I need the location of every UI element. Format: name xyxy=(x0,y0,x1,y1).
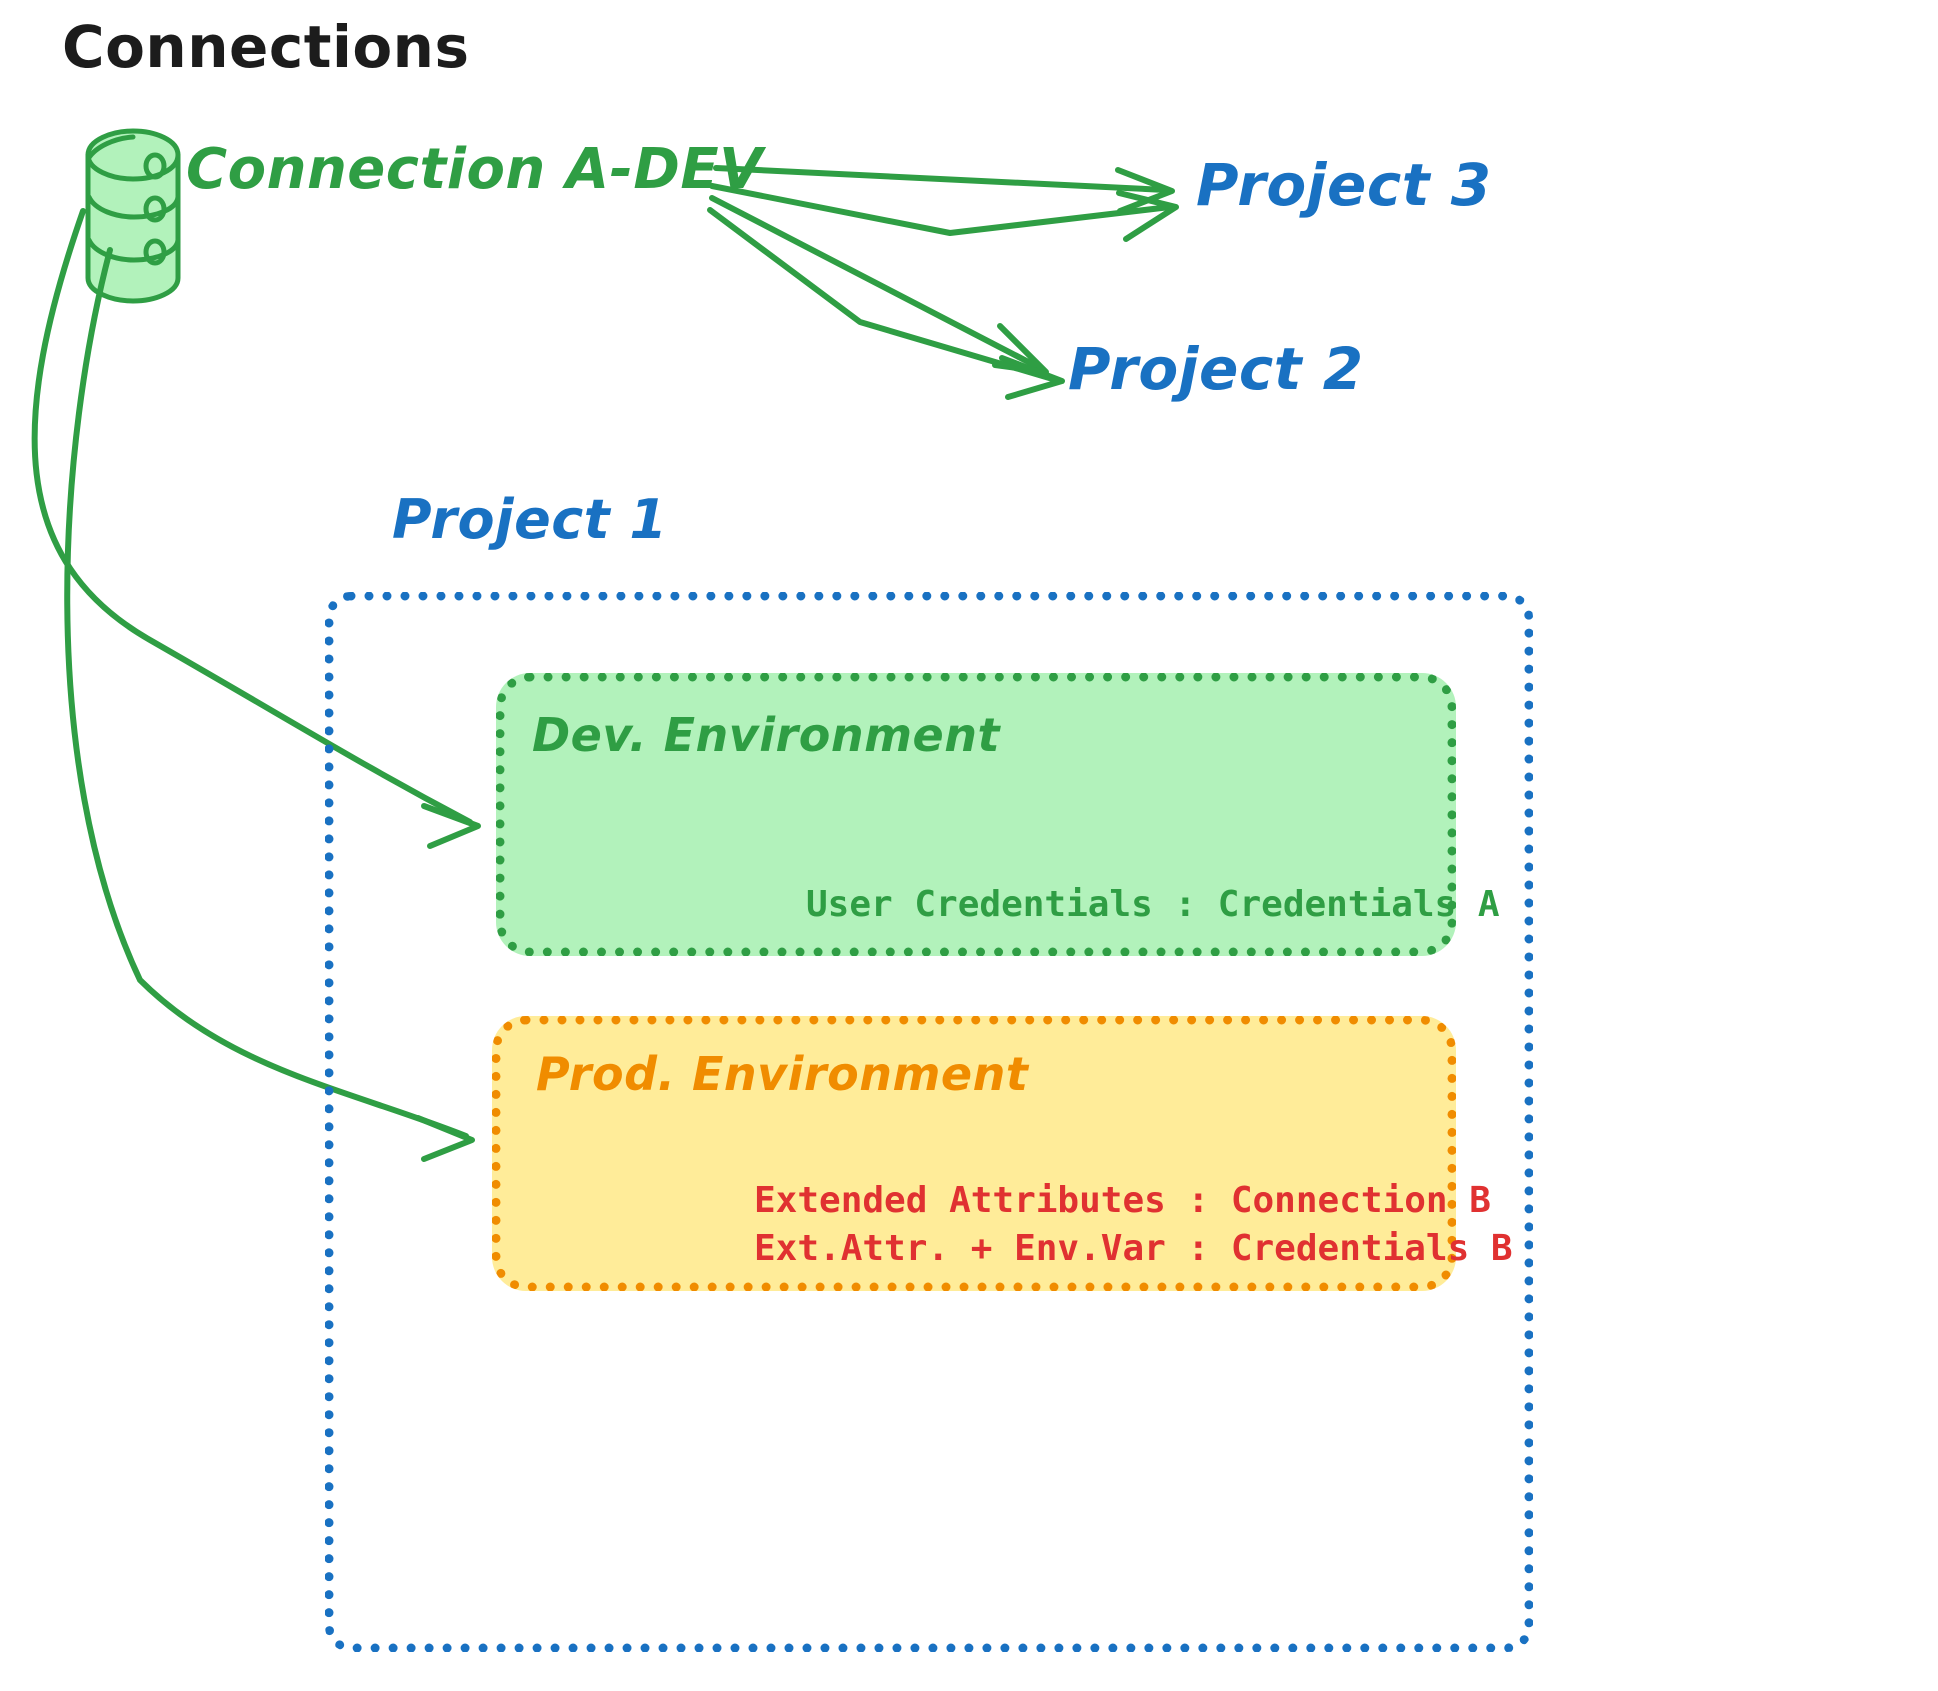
connection-a-dev-label[interactable]: Connection A-DEV xyxy=(186,138,763,202)
dev-environment-credentials-line: User Credentials : Credentials A xyxy=(806,884,1500,925)
project-2-label[interactable]: Project 2 xyxy=(1068,336,1364,403)
arrow-conn-to-project-2-b xyxy=(710,210,1062,397)
page-title: Connections xyxy=(62,14,469,81)
dev-environment-title: Dev. Environment xyxy=(532,709,1000,762)
project-3-label[interactable]: Project 3 xyxy=(1196,152,1492,219)
prod-environment-env-var-line: Ext.Attr. + Env.Var : Credentials B xyxy=(754,1228,1513,1269)
arrow-conn-to-project-3-a xyxy=(716,168,1172,211)
project-1-label[interactable]: Project 1 xyxy=(392,489,667,551)
prod-environment-extended-attributes-line: Extended Attributes : Connection B xyxy=(754,1180,1491,1221)
arrow-conn-to-project-2-a xyxy=(712,198,1046,372)
prod-environment-title: Prod. Environment xyxy=(536,1048,1028,1101)
diagram-canvas: Connections Connection A-DEV Project 3 P… xyxy=(0,0,1938,1691)
